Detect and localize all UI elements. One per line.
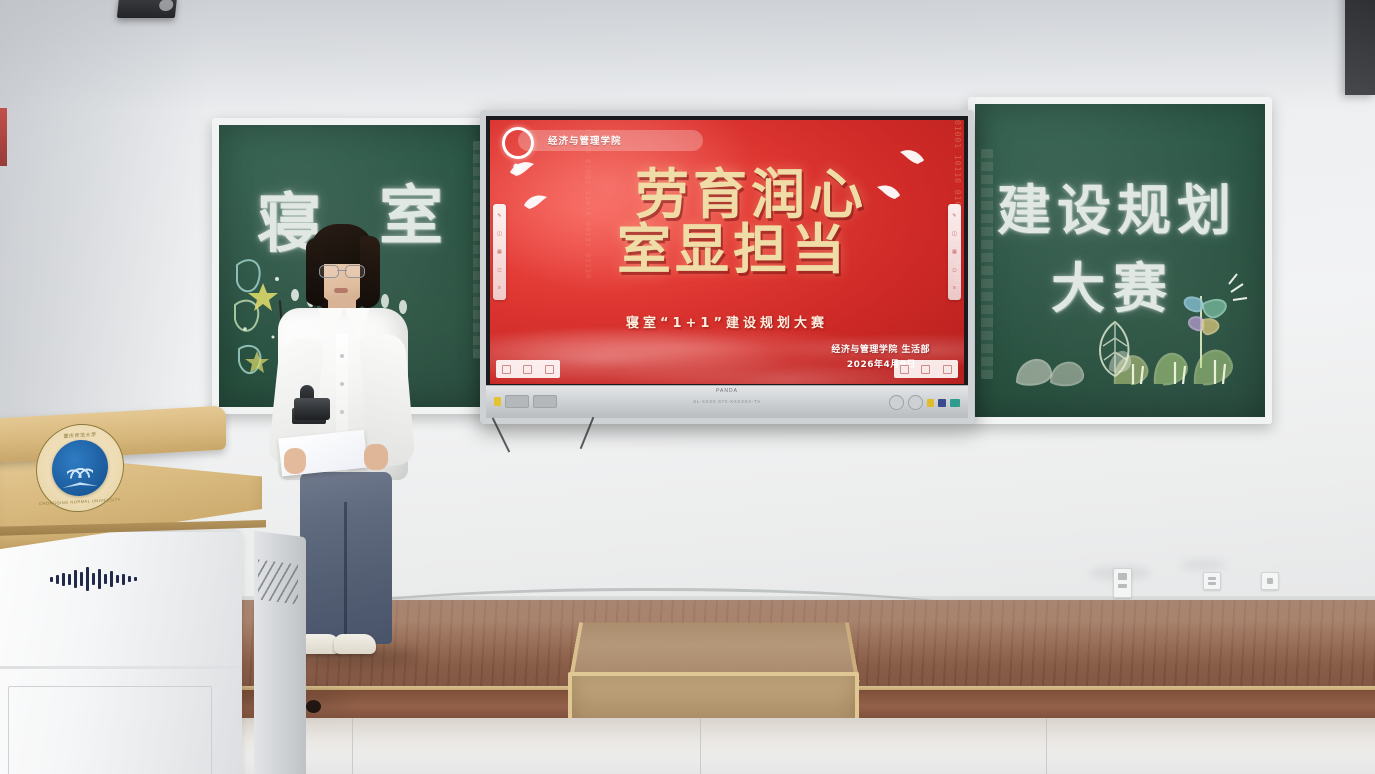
classroom-scene: 寝 室 [0,0,1375,774]
tile-seam [1046,718,1047,774]
microphone-stand-base [294,398,330,420]
indicator-led [494,397,501,406]
menu-tool-icon[interactable]: ≡ [953,286,956,291]
poster-subtitle: 寝室“1+1”建设规划大赛 [490,312,964,331]
tile-seam [700,718,701,774]
wall-shading-top [0,0,1375,110]
soundwave-bar [110,571,113,587]
denim-jeans [300,472,392,644]
emblem-flame-icon [67,453,93,478]
wall-speaker-icon [117,0,177,18]
board-slide-track [981,149,993,379]
lens-right [345,265,365,278]
panel-item-icon[interactable] [502,365,511,374]
panel-item-icon[interactable] [921,365,930,374]
panel-item-icon[interactable] [943,365,952,374]
soundwave-bar [86,567,89,591]
grid-tool-icon[interactable]: ▦ [497,250,502,255]
college-badge-label: 经济与管理学院 [548,133,622,147]
network-outlet[interactable] [1261,572,1279,590]
port-icon [950,399,960,407]
smartboard-model: SL-XXXX 87X-XXXXXX-TV [693,399,761,404]
port-icon [938,399,946,407]
shirt-button [340,410,344,414]
tile-seam [352,718,353,774]
pen-tool-icon[interactable]: ✎ [497,214,501,219]
soundwave-bar [128,576,131,582]
soundwave-bar [62,573,65,586]
power-outlet[interactable] [1203,572,1221,590]
sprout-doodle [1171,252,1251,372]
university-emblem: 重庆师范大学 CHONGQING NORMAL UNIVERSITY [36,422,124,515]
mouth [334,288,348,293]
screen-toolbar-right[interactable]: ✎ ◫ ▦ ◻ ≡ [948,204,961,300]
smartboard-bezel: PANDA SL-XXXX 87X-XXXXXX-TV [486,385,968,418]
eraser-tool-icon[interactable]: ◻ [952,268,956,273]
indicator-led [927,399,934,407]
lens-left [319,265,339,278]
podium-vent-grille [258,560,298,605]
screen-toolbar-left[interactable]: ✎ ◫ ▦ ◻ ≡ [493,204,506,300]
soundwave-bar [134,577,137,581]
shirt-button [340,354,344,358]
event-poster: 01001 10110 01011 10010 01101 00111 1010… [490,120,964,384]
shirt-button [340,382,344,386]
emblem-inner-disc [52,439,108,498]
wall-scuff [1180,560,1226,570]
hand-right [364,444,388,470]
bezel-button[interactable] [505,395,529,408]
leaf-doodle [1085,316,1141,382]
soundwave-bar [104,574,107,584]
smartboard-screen[interactable]: 01001 10110 01011 10010 01101 00111 1010… [490,120,964,384]
panel-item-icon[interactable] [545,365,554,374]
soundwave-bar [68,574,71,585]
bezel-right-controls[interactable] [889,395,960,410]
podium-front-panel [8,686,212,774]
shape-tool-icon[interactable]: ◫ [952,232,957,237]
menu-tool-icon[interactable]: ≡ [498,286,501,291]
soundwave-bar [116,575,119,583]
bezel-left-controls[interactable] [494,395,557,408]
grass-doodle [1109,318,1259,390]
wall-red-strip [0,108,7,166]
soundwave-bar [122,574,125,585]
interactive-smartboard[interactable]: 01001 10110 01011 10010 01101 00111 1010… [480,110,974,424]
stage-step-box [560,620,850,725]
soundwave-bar [98,569,101,589]
lectern-podium: 重庆师范大学 CHONGQING NORMAL UNIVERSITY [0,412,294,774]
screen-corner-panel-left[interactable] [496,360,560,378]
home-button[interactable] [908,395,923,410]
soundwave-bar [50,577,53,582]
smartboard-brand: PANDA [716,388,738,394]
soundwave-bar [92,573,95,585]
corner-monitor-icon [1345,0,1375,95]
wall-switch-panel[interactable] [1113,568,1132,598]
panel-item-icon[interactable] [523,365,532,374]
soundwave-bar [56,575,59,584]
grid-tool-icon[interactable]: ▦ [952,250,957,255]
eyeglasses-icon [318,265,366,277]
glasses-bridge [337,270,347,271]
eraser-tool-icon[interactable]: ◻ [497,268,501,273]
shoe-right [334,634,376,654]
chalk-line-dasai: 大赛 [1051,244,1175,323]
pen-tool-icon[interactable]: ✎ [952,214,956,219]
mushroom-doodle [1011,340,1095,388]
power-button[interactable] [889,395,904,410]
panel-item-icon[interactable] [900,365,909,374]
bezel-button[interactable] [533,395,557,408]
blackboard-right: 建设规划 大赛 [968,97,1272,424]
soundwave-graphic [50,562,142,596]
soundwave-bar [74,570,77,588]
soundwave-bar [80,572,83,586]
screen-corner-panel-right[interactable] [894,360,958,378]
chalk-line-jianshe-guihua: 建设规划 [997,166,1237,245]
shape-tool-icon[interactable]: ◫ [497,232,502,237]
poster-organizer: 经济与管理学院 生活部 [831,342,930,355]
